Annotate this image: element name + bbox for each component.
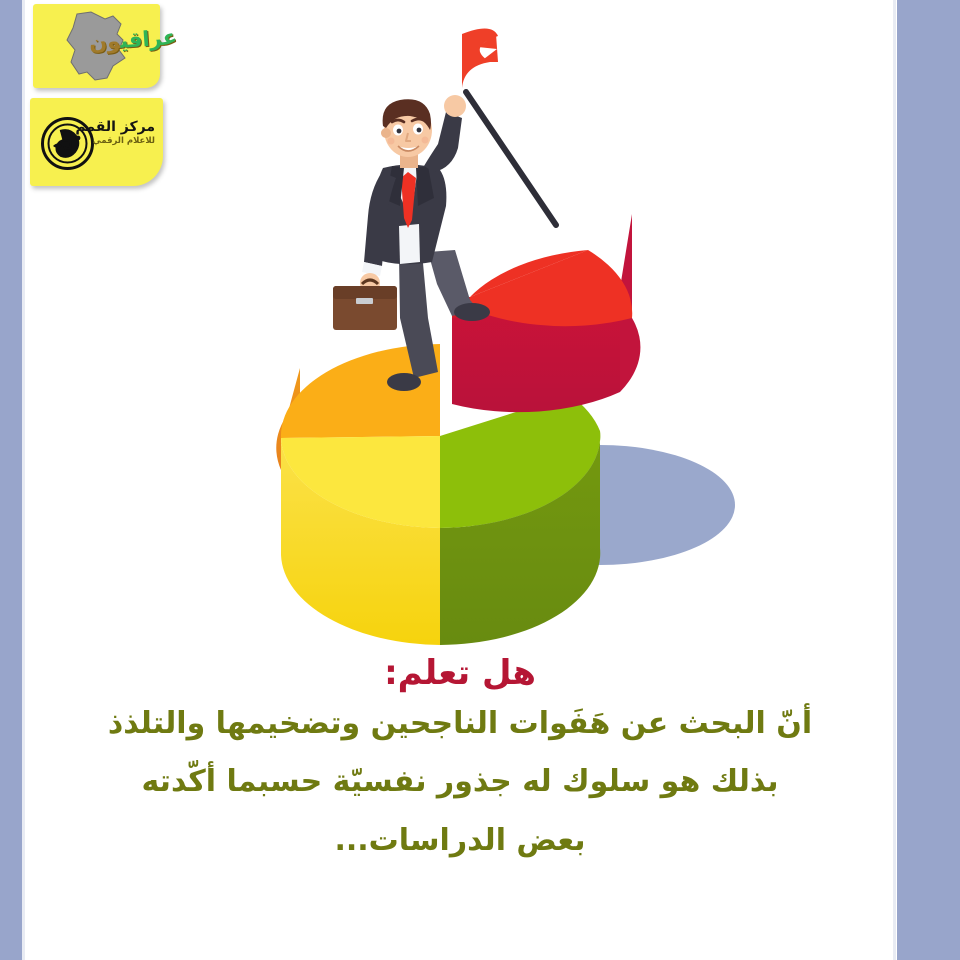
pupil-right <box>417 128 422 133</box>
caption-line-3: بعض الدراسات... <box>25 812 895 871</box>
back-shoe <box>387 373 421 391</box>
iraqiyoon-word-green: عراقي <box>119 25 177 53</box>
iraqiyoon-logo-card[interactable]: عراقيون <box>33 4 160 88</box>
briefcase-shade <box>333 286 397 299</box>
flag-pole <box>466 92 556 225</box>
cheek-left <box>388 138 395 145</box>
front-shoe <box>454 303 490 321</box>
caption-line-2: بذلك هو سلوك له جذور نفسيّة حسبما أكّدته <box>25 753 895 812</box>
shirt-lower <box>399 224 420 264</box>
briefcase-latch <box>356 298 373 304</box>
alqimam-title: مركز القمم <box>75 120 155 135</box>
alqimam-wordmark: مركز القمم للاعلام الرقمي <box>75 120 155 146</box>
alqimam-logo-card[interactable]: مركز القمم للاعلام الرقمي <box>30 98 163 186</box>
ear <box>381 128 391 138</box>
alqimam-subtitle: للاعلام الرقمي <box>75 137 155 146</box>
caption-heading: هل تعلم: <box>25 652 895 695</box>
cheek-right <box>422 137 429 144</box>
caption-line-1: أنّ البحث عن هَفَوات الناجحين وتضخيمها و… <box>25 695 895 754</box>
pupil-left <box>397 129 402 134</box>
caption-block: هل تعلم: أنّ البحث عن هَفَوات الناجحين و… <box>25 652 895 870</box>
iraqiyoon-word-brown: ون <box>88 29 121 55</box>
poster-canvas: عراقيون مركز القمم للاعلام الرقمي هل تعل… <box>0 0 960 960</box>
raised-hand <box>444 95 466 117</box>
